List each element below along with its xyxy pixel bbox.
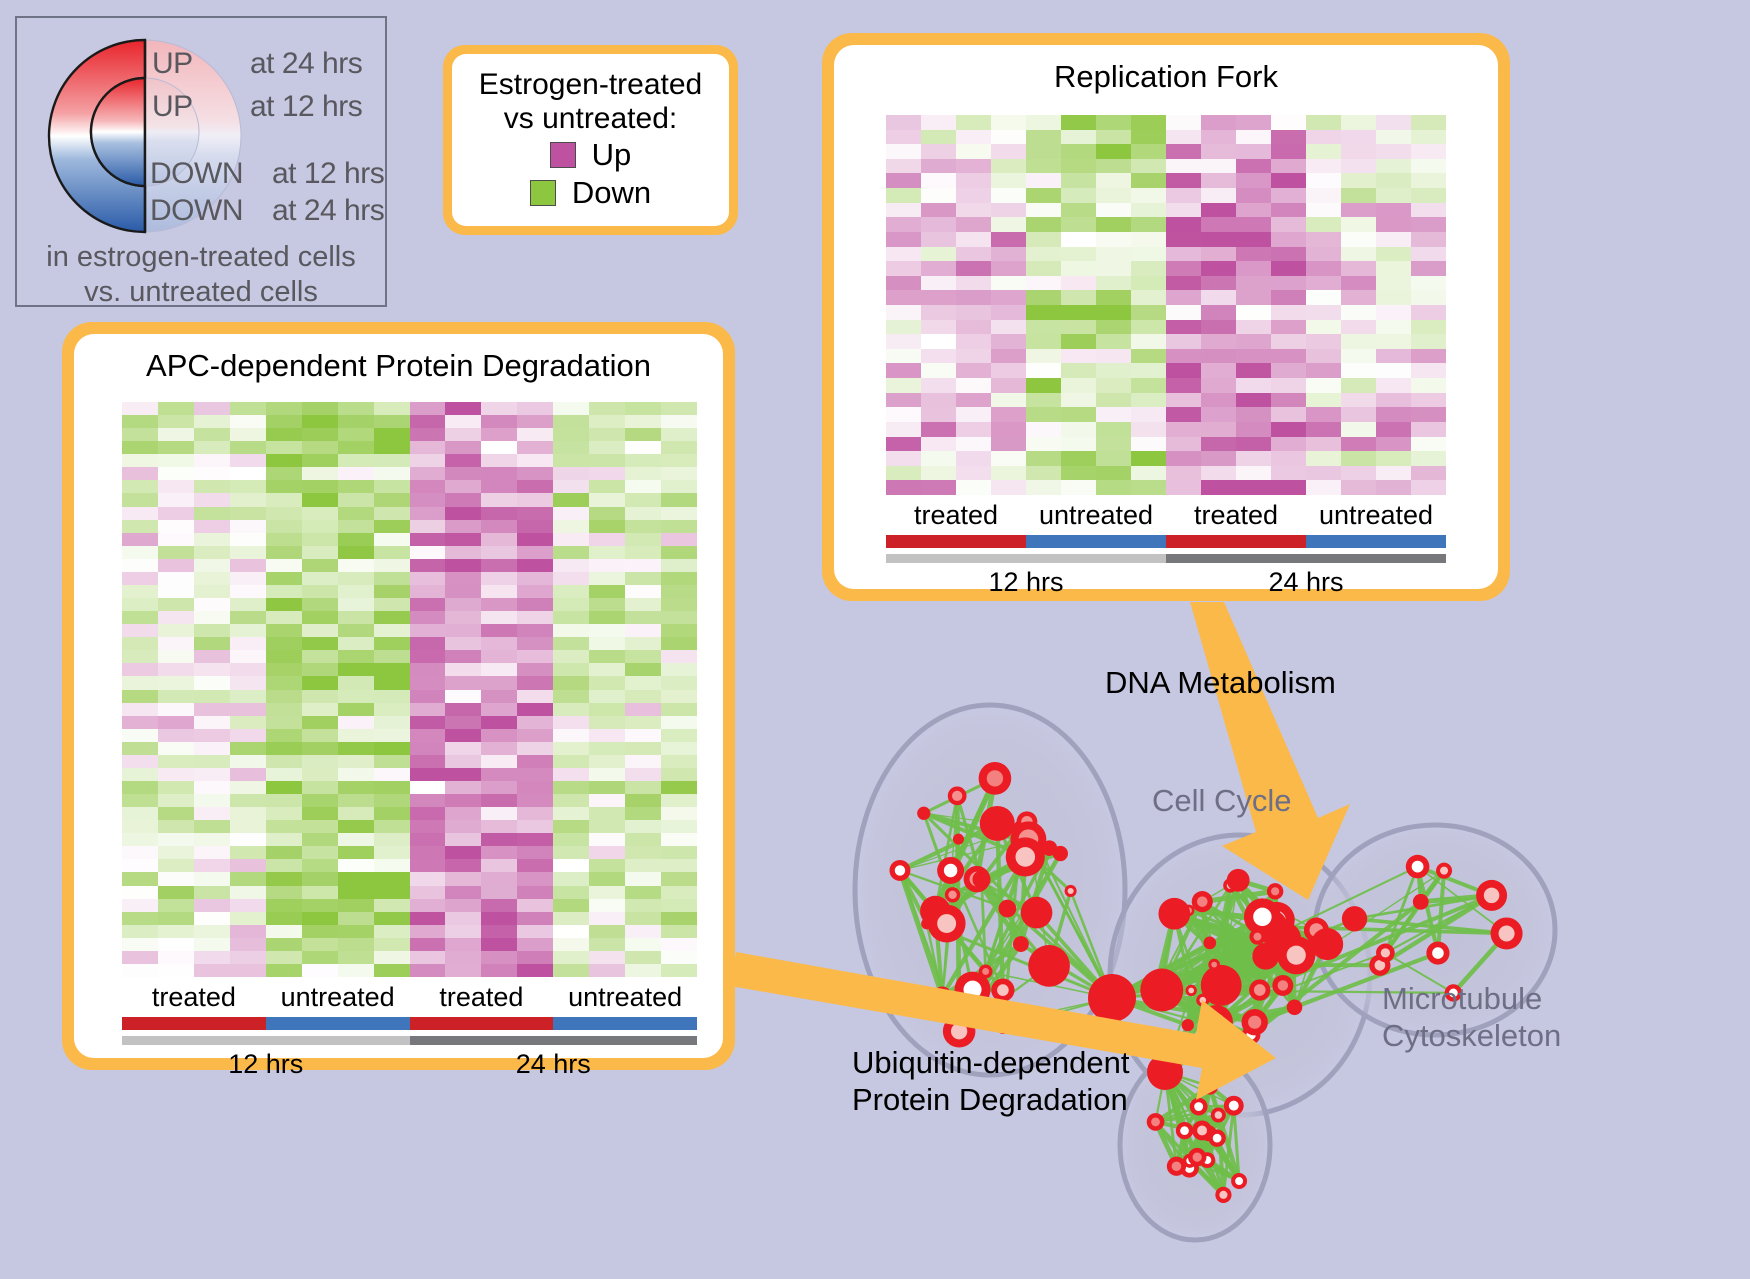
heatmap-cell — [1236, 437, 1271, 452]
heatmap-cell — [374, 964, 410, 977]
heatmap-cell — [158, 650, 194, 663]
heatmap-cell — [589, 428, 625, 441]
heatmap-cell — [625, 546, 661, 559]
heatmap-cell — [1236, 115, 1271, 130]
heatmap-cell — [553, 559, 589, 572]
heatmap-cell — [158, 572, 194, 585]
heatmap-cell — [589, 520, 625, 533]
heatmap-cell — [1341, 349, 1376, 364]
heatmap-cell — [991, 451, 1026, 466]
heatmap-cell — [1306, 407, 1341, 422]
heatmap-cell — [921, 203, 956, 218]
colorwheel-row-0-direction: UP — [152, 47, 193, 81]
heatmap-cell — [481, 716, 517, 729]
heatmap-cell — [1271, 437, 1306, 452]
heatmap-cell — [1096, 305, 1131, 320]
heatmap-cell — [553, 781, 589, 794]
heatmap-cell — [1236, 276, 1271, 291]
heatmap-cell — [661, 859, 697, 872]
heatmap-cell — [410, 467, 446, 480]
heatmap-cell — [517, 454, 553, 467]
network-node — [955, 972, 991, 1008]
heatmap-cell — [481, 690, 517, 703]
heatmap-cell — [553, 454, 589, 467]
heatmap-cell — [517, 859, 553, 872]
heatmap-cell — [266, 559, 302, 572]
heatmap-cell — [445, 624, 481, 637]
heatmap-cell — [1271, 305, 1306, 320]
heatmap-cell — [991, 349, 1026, 364]
heatmap-cell — [374, 559, 410, 572]
heatmap-cell — [338, 742, 374, 755]
network-node — [1476, 880, 1507, 911]
heatmap-cell — [956, 451, 991, 466]
heatmap-cell — [194, 663, 230, 676]
heatmap-cell — [230, 768, 266, 781]
heatmap-cell — [158, 624, 194, 637]
heatmap-cell — [374, 951, 410, 964]
heatmap-cell — [661, 507, 697, 520]
heatmap-cell — [410, 886, 446, 899]
heatmap-cell — [991, 261, 1026, 276]
network-node — [1196, 994, 1209, 1007]
heatmap-cell — [194, 951, 230, 964]
heatmap-cell — [1411, 451, 1446, 466]
heatmap-cell — [445, 441, 481, 454]
heatmap-cell — [1096, 290, 1131, 305]
heatmap-cell — [589, 807, 625, 820]
treatment-bar-segment — [1306, 535, 1446, 548]
heatmap-cell — [266, 611, 302, 624]
heatmap-cell — [991, 276, 1026, 291]
heatmap-cell — [1166, 232, 1201, 247]
heatmap-cell — [230, 598, 266, 611]
heatmap-cell — [410, 428, 446, 441]
heatmap-cell — [1271, 217, 1306, 232]
heatmap-cell — [302, 938, 338, 951]
heatmap-cell — [194, 703, 230, 716]
heatmap-cell — [661, 807, 697, 820]
heatmap-cell — [338, 807, 374, 820]
heatmap-cell — [625, 703, 661, 716]
heatmap-cell — [338, 846, 374, 859]
heatmap-cell — [122, 546, 158, 559]
heatmap-cell — [445, 428, 481, 441]
heatmap-cell — [589, 755, 625, 768]
colorwheel-footer-line2: vs. untreated cells — [17, 275, 385, 310]
heatmap-cell — [625, 585, 661, 598]
heatmap-cell — [517, 703, 553, 716]
heatmap-cell — [230, 951, 266, 964]
heatmap-cell — [1271, 173, 1306, 188]
heatmap-cell — [1131, 290, 1166, 305]
heatmap-cell — [158, 480, 194, 493]
up-down-legend-card: Estrogen-treated vs untreated: Up Down — [443, 45, 738, 235]
heatmap-cell — [1026, 305, 1061, 320]
heatmap-cell — [1271, 232, 1306, 247]
heatmap-cell — [374, 781, 410, 794]
heatmap-cell — [517, 676, 553, 689]
heatmap-cell — [956, 115, 991, 130]
heatmap-cell — [517, 807, 553, 820]
heatmap-cell — [956, 247, 991, 262]
heatmap-cell — [1166, 217, 1201, 232]
heatmap-cell — [302, 467, 338, 480]
heatmap-cell — [1341, 144, 1376, 159]
heatmap-cell — [661, 480, 697, 493]
heatmap-cell — [1201, 290, 1236, 305]
heatmap-cell — [338, 703, 374, 716]
heatmap-cell — [1306, 320, 1341, 335]
heatmap-cell — [230, 859, 266, 872]
heatmap-cell — [338, 585, 374, 598]
heatmap-cell — [338, 480, 374, 493]
treatment-label: treated — [1166, 500, 1306, 534]
heatmap-cell — [921, 290, 956, 305]
heatmap-cell — [661, 624, 697, 637]
heatmap-cell — [374, 820, 410, 833]
heatmap-cell — [481, 833, 517, 846]
heatmap-cell — [1306, 378, 1341, 393]
network-node — [1426, 941, 1449, 964]
heatmap-cell — [1096, 173, 1131, 188]
heatmap-cell — [122, 533, 158, 546]
heatmap-cell — [1061, 437, 1096, 452]
heatmap-cell — [194, 925, 230, 938]
colorwheel-row-2-time: at 12 hrs — [272, 157, 384, 191]
heatmap-cell — [374, 872, 410, 885]
heatmap-cell — [481, 598, 517, 611]
heatmap-cell — [302, 663, 338, 676]
heatmap-cell — [1411, 320, 1446, 335]
heatmap-cell — [230, 872, 266, 885]
heatmap-cell — [589, 833, 625, 846]
heatmap-cell — [1341, 466, 1376, 481]
heatmap-cell — [302, 415, 338, 428]
network-node — [1199, 1005, 1233, 1039]
heatmap-cell — [661, 899, 697, 912]
heatmap-cell — [122, 716, 158, 729]
heatmap-cell — [1271, 480, 1306, 495]
heatmap-cell — [1411, 261, 1446, 276]
heatmap-cell — [338, 794, 374, 807]
heatmap-cell — [158, 886, 194, 899]
heatmap-cell — [230, 742, 266, 755]
heatmap-cell — [517, 899, 553, 912]
heatmap-cell — [481, 912, 517, 925]
heatmap-cell — [661, 794, 697, 807]
heatmap-cell — [374, 441, 410, 454]
heatmap-cell — [1131, 188, 1166, 203]
heatmap-cell — [122, 520, 158, 533]
heatmap-cell — [481, 559, 517, 572]
heatmap-cell — [625, 637, 661, 650]
heatmap-cell — [1061, 203, 1096, 218]
heatmap-cell — [158, 964, 194, 977]
heatmap-cell — [1236, 232, 1271, 247]
heatmap-cell — [661, 833, 697, 846]
network-node — [1190, 1098, 1208, 1116]
heatmap-cell — [158, 951, 194, 964]
heatmap-cell — [517, 925, 553, 938]
heatmap-cell — [266, 716, 302, 729]
heatmap-cell — [122, 467, 158, 480]
heatmap-cell — [1061, 422, 1096, 437]
heatmap-cell — [122, 703, 158, 716]
replication-treatment-bar — [886, 535, 1446, 548]
heatmap-cell — [661, 846, 697, 859]
heatmap-cell — [517, 585, 553, 598]
heatmap-cell — [625, 846, 661, 859]
network-node — [1311, 928, 1343, 960]
heatmap-cell — [661, 611, 697, 624]
heatmap-cell — [338, 637, 374, 650]
heatmap-cell — [445, 676, 481, 689]
heatmap-cell — [410, 794, 446, 807]
heatmap-cell — [1341, 115, 1376, 130]
heatmap-cell — [1061, 305, 1096, 320]
heatmap-cell — [1376, 305, 1411, 320]
legend-item-up: Up — [550, 137, 632, 173]
heatmap-cell — [921, 232, 956, 247]
heatmap-cell — [991, 480, 1026, 495]
treatment-label: untreated — [266, 982, 410, 1016]
heatmap-cell — [991, 407, 1026, 422]
heatmap-cell — [661, 663, 697, 676]
heatmap-cell — [302, 951, 338, 964]
heatmap-cell — [410, 572, 446, 585]
treatment-bar-segment — [410, 1017, 554, 1030]
heatmap-cell — [194, 415, 230, 428]
network-node — [1028, 945, 1070, 987]
heatmap-cell — [991, 393, 1026, 408]
heatmap-cell — [230, 703, 266, 716]
heatmap-cell — [302, 572, 338, 585]
heatmap-cell — [374, 480, 410, 493]
heatmap-cell — [445, 820, 481, 833]
heatmap-cell — [338, 729, 374, 742]
heatmap-cell — [1411, 232, 1446, 247]
heatmap-cell — [230, 441, 266, 454]
heatmap-cell — [374, 598, 410, 611]
heatmap-cell — [374, 663, 410, 676]
heatmap-cell — [158, 415, 194, 428]
treatment-bar-segment — [1166, 535, 1306, 548]
heatmap-cell — [194, 533, 230, 546]
heatmap-cell — [1166, 115, 1201, 130]
heatmap-cell — [158, 729, 194, 742]
heatmap-cell — [589, 559, 625, 572]
heatmap-cell — [886, 334, 921, 349]
heatmap-cell — [1131, 276, 1166, 291]
heatmap-cell — [1236, 407, 1271, 422]
heatmap-cell — [410, 807, 446, 820]
heatmap-cell — [1131, 480, 1166, 495]
colorwheel-footer: in estrogen-treated cells vs. untreated … — [17, 240, 385, 311]
heatmap-cell — [625, 899, 661, 912]
heatmap-cell — [625, 611, 661, 624]
heatmap-apc-degradation — [122, 402, 697, 977]
heatmap-cell — [302, 454, 338, 467]
heatmap-cell — [445, 533, 481, 546]
heatmap-cell — [1131, 173, 1166, 188]
heatmap-cell — [266, 533, 302, 546]
heatmap-cell — [553, 899, 589, 912]
treatment-bar-segment — [553, 1017, 697, 1030]
heatmap-cell — [410, 781, 446, 794]
heatmap-cell — [1376, 232, 1411, 247]
heatmap-cell — [661, 938, 697, 951]
heatmap-cell — [266, 454, 302, 467]
heatmap-cell — [481, 794, 517, 807]
heatmap-cell — [158, 925, 194, 938]
heatmap-cell — [589, 690, 625, 703]
heatmap-cell — [1201, 261, 1236, 276]
heatmap-cell — [1376, 203, 1411, 218]
heatmap-cell — [886, 188, 921, 203]
heatmap-cell — [553, 441, 589, 454]
heatmap-cell — [266, 507, 302, 520]
heatmap-cell — [1061, 247, 1096, 262]
heatmap-cell — [921, 188, 956, 203]
heatmap-cell — [445, 846, 481, 859]
heatmap-cell — [625, 454, 661, 467]
heatmap-cell — [1166, 334, 1201, 349]
heatmap-cell — [553, 507, 589, 520]
heatmap-cell — [158, 846, 194, 859]
heatmap-cell — [886, 232, 921, 247]
heatmap-cell — [481, 585, 517, 598]
heatmap-cell — [589, 899, 625, 912]
heatmap-cell — [1026, 188, 1061, 203]
heatmap-cell — [991, 437, 1026, 452]
heatmap-cell — [1131, 232, 1166, 247]
heatmap-cell — [625, 493, 661, 506]
heatmap-cell — [374, 807, 410, 820]
heatmap-cell — [1236, 188, 1271, 203]
heatmap-cell — [194, 755, 230, 768]
heatmap-cell — [1061, 188, 1096, 203]
heatmap-cell — [374, 755, 410, 768]
treatment-bar-segment — [266, 1017, 410, 1030]
heatmap-cell — [517, 650, 553, 663]
heatmap-cell — [445, 637, 481, 650]
heatmap-cell — [194, 676, 230, 689]
network-node — [948, 786, 967, 805]
heatmap-cell — [1026, 334, 1061, 349]
heatmap-cell — [921, 422, 956, 437]
heatmap-cell — [1306, 261, 1341, 276]
heatmap-cell — [625, 415, 661, 428]
heatmap-cell — [1201, 378, 1236, 393]
heatmap-cell — [625, 938, 661, 951]
heatmap-cell — [445, 507, 481, 520]
heatmap-cell — [1166, 480, 1201, 495]
cluster-label-ubiquitin-degradation: Ubiquitin-dependent Protein Degradation — [852, 1045, 1130, 1118]
heatmap-cell — [661, 872, 697, 885]
heatmap-cell — [553, 598, 589, 611]
heatmap-cell — [266, 676, 302, 689]
replication-time-labels: 12 hrs24 hrs — [886, 567, 1446, 601]
heatmap-cell — [625, 886, 661, 899]
heatmap-cell — [194, 690, 230, 703]
heatmap-cell — [1026, 232, 1061, 247]
heatmap-cell — [158, 559, 194, 572]
heatmap-cell — [1411, 247, 1446, 262]
colorwheel-footer-line1: in estrogen-treated cells — [17, 240, 385, 275]
network-node — [972, 870, 990, 888]
heatmap-cell — [1096, 451, 1131, 466]
heatmap-cell — [956, 188, 991, 203]
network-node — [1065, 885, 1077, 897]
heatmap-cell — [1166, 393, 1201, 408]
heatmap-cell — [481, 703, 517, 716]
heatmap-cell — [553, 520, 589, 533]
heatmap-cell — [445, 493, 481, 506]
treatment-label: untreated — [1026, 500, 1166, 534]
heatmap-cell — [956, 305, 991, 320]
heatmap-cell — [553, 742, 589, 755]
heatmap-cell — [230, 559, 266, 572]
heatmap-cell — [445, 415, 481, 428]
heatmap-cell — [661, 572, 697, 585]
treatment-bar-segment — [1026, 535, 1166, 548]
heatmap-cell — [158, 663, 194, 676]
heatmap-cell — [1411, 422, 1446, 437]
network-node — [1192, 1121, 1212, 1141]
heatmap-cell — [1166, 290, 1201, 305]
heatmap-cell — [956, 290, 991, 305]
heatmap-cell — [410, 585, 446, 598]
heatmap-cell — [194, 624, 230, 637]
heatmap-cell — [1201, 217, 1236, 232]
heatmap-cell — [302, 807, 338, 820]
heatmap-cell — [661, 964, 697, 977]
treatment-label: treated — [122, 982, 266, 1016]
heatmap-cell — [1096, 261, 1131, 276]
heatmap-cell — [886, 217, 921, 232]
heatmap-cell — [956, 203, 991, 218]
heatmap-cell — [553, 611, 589, 624]
heatmap-cell — [374, 415, 410, 428]
heatmap-cell — [1201, 437, 1236, 452]
heatmap-cell — [921, 130, 956, 145]
heatmap-cell — [122, 402, 158, 415]
network-node — [1268, 921, 1285, 938]
heatmap-cell — [1166, 437, 1201, 452]
heatmap-cell — [517, 794, 553, 807]
heatmap-cell — [338, 441, 374, 454]
heatmap-cell — [122, 493, 158, 506]
network-node — [1042, 840, 1058, 856]
heatmap-cell — [517, 781, 553, 794]
up-down-legend-title-line1: Estrogen-treated — [479, 68, 702, 102]
heatmap-cell — [1411, 466, 1446, 481]
heatmap-cell — [517, 820, 553, 833]
heatmap-cell — [661, 415, 697, 428]
heatmap-cell — [1411, 276, 1446, 291]
heatmap-cell — [374, 925, 410, 938]
heatmap-cell — [625, 533, 661, 546]
heatmap-cell — [374, 716, 410, 729]
heatmap-cell — [517, 533, 553, 546]
heatmap-cell — [158, 598, 194, 611]
heatmap-cell — [445, 520, 481, 533]
heatmap-cell — [122, 964, 158, 977]
heatmap-cell — [1271, 334, 1306, 349]
heatmap-cell — [1096, 144, 1131, 159]
heatmap-cell — [445, 872, 481, 885]
